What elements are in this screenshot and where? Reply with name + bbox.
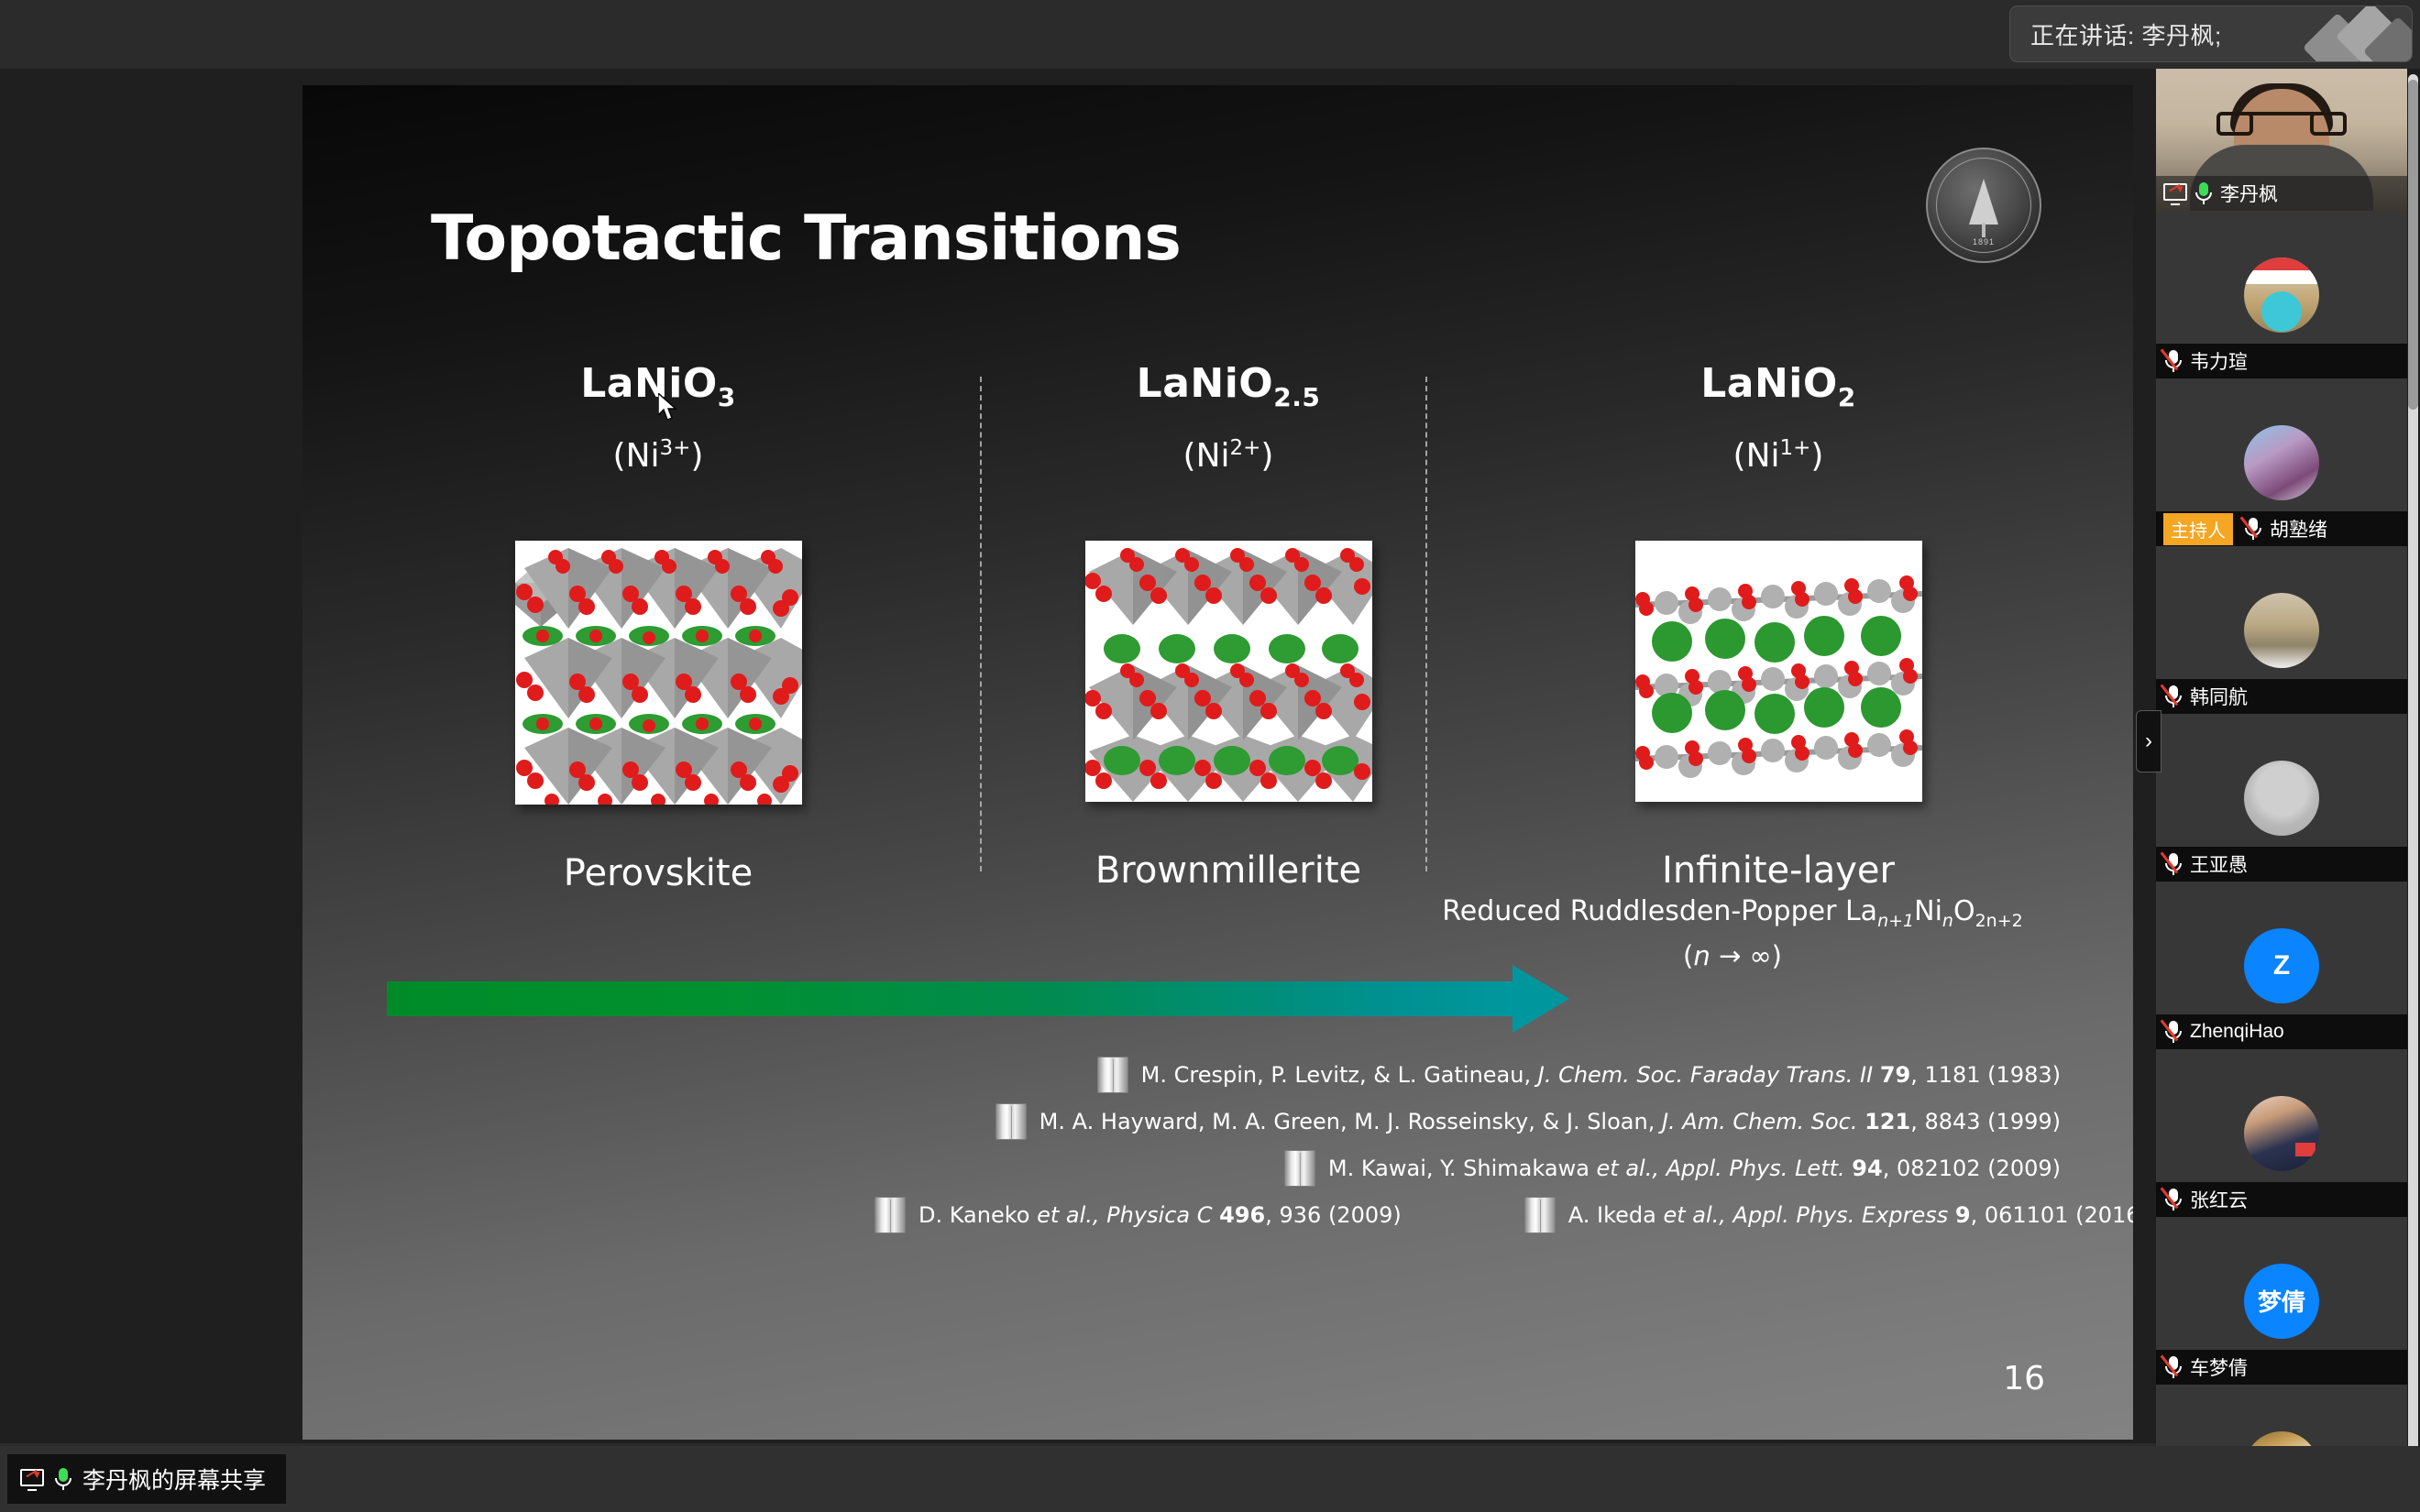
participant-name-bar: 主持人胡塾绪	[2156, 511, 2407, 546]
participant-tile[interactable]: 韦力瑄	[2156, 211, 2407, 378]
participant-name-bar: ZhenqiHao	[2156, 1014, 2407, 1049]
participant-list[interactable]: 李丹枫韦力瑄主持人胡塾绪韩同航王亚愚ZZhenqiHao张红云梦倩车梦倩龚冠铭	[2156, 69, 2407, 1485]
avatar-initials: 梦倩	[2258, 1284, 2305, 1318]
participant-name: 韦力瑄	[2190, 347, 2248, 375]
presentation-slide: Topotactic Transitions 1891 LaNiO3 (Ni3+…	[302, 85, 2133, 1440]
participant-name-bar: 韦力瑄	[2156, 344, 2407, 378]
ruddlesden-popper-note: Reduced Ruddlesden-Popper Lan+1NinO2n+2 …	[1366, 895, 2099, 971]
participant-tile[interactable]: 张红云	[2156, 1049, 2407, 1217]
screen-share-indicator: 李丹枫的屏幕共享	[7, 1454, 286, 1504]
phase-label: Brownmillerite	[944, 849, 1512, 892]
participant-name: 张红云	[2190, 1186, 2248, 1213]
book-icon	[1524, 1197, 1556, 1233]
microphone-icon	[2194, 181, 2214, 205]
rp-formula-line: Reduced Ruddlesden-Popper Lan+1NinO2n+2	[1366, 895, 2099, 931]
microphone-muted-icon	[2163, 349, 2183, 373]
slide-page-number: 16	[2003, 1360, 2045, 1397]
bottom-bar: 李丹枫的屏幕共享	[0, 1446, 2420, 1512]
avatar	[2244, 1096, 2319, 1171]
microphone-muted-icon	[2163, 1188, 2183, 1211]
participant-tile[interactable]: 主持人胡塾绪	[2156, 378, 2407, 546]
citation-item: M. A. Hayward, M. A. Green, M. J. Rossei…	[339, 1103, 2097, 1140]
microphone-muted-icon	[2163, 852, 2183, 876]
chemical-formula: LaNiO2.5	[944, 360, 1512, 412]
book-icon	[995, 1103, 1027, 1140]
scrollbar-thumb[interactable]	[2408, 80, 2418, 410]
avatar	[2244, 425, 2319, 500]
book-icon	[1097, 1057, 1128, 1093]
phase-label: Perovskite	[374, 852, 942, 894]
app-logo-icon	[2293, 6, 2412, 62]
participant-name: 胡塾绪	[2270, 515, 2327, 542]
active-speaker-indicator: 正在讲话: 李丹枫;	[2009, 5, 2413, 62]
host-badge: 主持人	[2163, 513, 2233, 545]
microphone-muted-icon	[2163, 1355, 2183, 1379]
avatar	[2244, 593, 2319, 668]
participant-name: 韩同航	[2190, 683, 2248, 710]
avatar: Z	[2244, 928, 2319, 1003]
screen-share-icon	[20, 1469, 44, 1489]
chemical-formula: LaNiO2	[1494, 360, 2062, 412]
participant-tile[interactable]: 梦倩车梦倩	[2156, 1217, 2407, 1385]
chevron-right-icon: ›	[2145, 730, 2152, 752]
screen-share-label: 李丹枫的屏幕共享	[82, 1463, 266, 1496]
microphone-icon	[53, 1467, 73, 1491]
screen-share-icon	[2163, 183, 2187, 203]
phase-column-infinite-layer: LaNiO2 (Ni1+)	[1494, 360, 2062, 892]
participant-tile[interactable]: ZZhenqiHao	[2156, 882, 2407, 1049]
phase-column-brownmillerite: LaNiO2.5 (Ni2+)	[944, 360, 1512, 892]
active-speaker-label: 正在讲话: 李丹枫;	[2030, 17, 2222, 51]
reduction-direction-arrow	[387, 972, 1597, 1027]
participant-name: 李丹枫	[2220, 180, 2278, 207]
participant-name-bar: 王亚愚	[2156, 847, 2407, 882]
citation-item: M. Kawai, Y. Shimakawa et al., Appl. Phy…	[339, 1150, 2097, 1187]
avatar	[2244, 761, 2319, 836]
perovskite-crystal-structure	[515, 541, 802, 805]
microphone-muted-icon	[2243, 517, 2263, 541]
valence-label: (Ni2+)	[944, 436, 1512, 475]
participant-name-bar: 韩同航	[2156, 679, 2407, 714]
participant-name: ZhenqiHao	[2190, 1021, 2284, 1043]
valence-label: (Ni3+)	[374, 436, 942, 475]
infinite-layer-crystal-structure	[1635, 541, 1922, 802]
participant-name-bar: 车梦倩	[2156, 1350, 2407, 1385]
participant-name: 王亚愚	[2190, 850, 2248, 878]
slide-title: Topotactic Transitions	[431, 203, 1181, 275]
participant-tile[interactable]: 韩同航	[2156, 546, 2407, 714]
citation-item: A. Ikeda et al., Appl. Phys. Express 9, …	[1512, 1197, 2133, 1233]
microphone-muted-icon	[2163, 685, 2183, 708]
book-icon	[1284, 1150, 1315, 1187]
panel-scrollbar[interactable]	[2408, 74, 2418, 1476]
citation-row: D. Kaneko et al., Physica C 496, 936 (20…	[339, 1197, 2097, 1233]
seal-year: 1891	[1937, 237, 2030, 247]
phase-label: Infinite-layer	[1494, 849, 2062, 892]
participants-panel: 李丹枫韦力瑄主持人胡塾绪韩同航王亚愚ZZhenqiHao张红云梦倩车梦倩龚冠铭	[2156, 69, 2420, 1512]
valence-label: (Ni1+)	[1494, 436, 2062, 475]
participant-name: 车梦倩	[2190, 1353, 2248, 1381]
collapse-panel-button[interactable]: ›	[2136, 710, 2161, 772]
book-icon	[874, 1197, 906, 1233]
phase-column-perovskite: LaNiO3 (Ni3+)	[374, 360, 942, 894]
stanford-seal-icon: 1891	[1926, 148, 2041, 263]
participant-name-bar: 李丹枫	[2156, 176, 2407, 211]
meeting-window: 正在讲话: 李丹枫; Topotactic Transitions 1891	[0, 0, 2420, 1512]
participant-tile[interactable]: 王亚愚	[2156, 714, 2407, 882]
rp-limit-line: (n → ∞)	[1366, 940, 2099, 971]
avatar-initials: Z	[2273, 950, 2290, 981]
citation-item: D. Kaneko et al., Physica C 496, 936 (20…	[862, 1197, 1402, 1233]
avatar	[2244, 257, 2319, 333]
participant-name-bar: 张红云	[2156, 1182, 2407, 1217]
participant-tile[interactable]: 李丹枫	[2156, 69, 2407, 211]
top-bar: 正在讲话: 李丹枫;	[0, 0, 2420, 69]
brownmillerite-crystal-structure	[1085, 541, 1372, 802]
citation-item: M. Crespin, P. Levitz, & L. Gatineau, J.…	[339, 1057, 2097, 1093]
avatar: 梦倩	[2244, 1264, 2319, 1339]
microphone-muted-icon	[2163, 1020, 2183, 1044]
shared-screen-stage: Topotactic Transitions 1891 LaNiO3 (Ni3+…	[0, 69, 2156, 1443]
citation-list: M. Crespin, P. Levitz, & L. Gatineau, J.…	[339, 1057, 2097, 1244]
